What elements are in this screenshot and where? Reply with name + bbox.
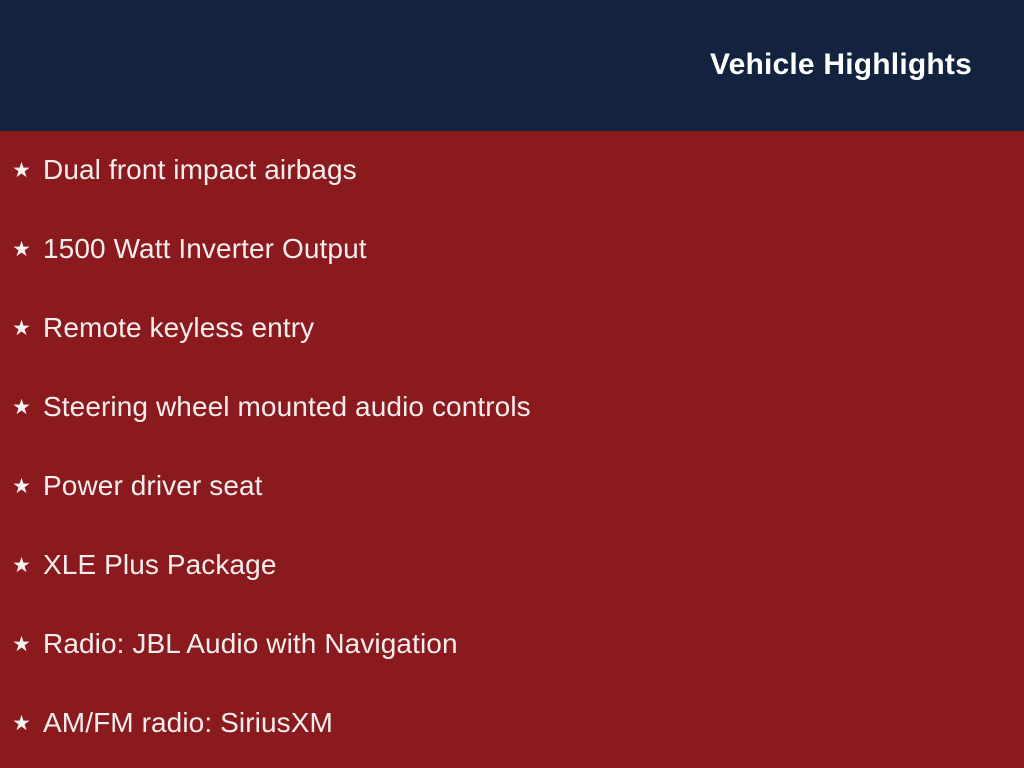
list-item-label: Remote keyless entry xyxy=(43,313,314,344)
list-item: ★ Remote keyless entry xyxy=(0,289,1024,368)
list-item: ★ 1500 Watt Inverter Output xyxy=(0,210,1024,289)
slide-header-band: Vehicle Highlights xyxy=(0,0,1024,131)
star-icon: ★ xyxy=(8,634,35,655)
list-item: ★ Radio: JBL Audio with Navigation xyxy=(0,605,1024,684)
list-item: ★ XLE Plus Package xyxy=(0,526,1024,605)
list-item: ★ Dual front impact airbags xyxy=(0,131,1024,210)
vehicle-highlights-slide: Vehicle Highlights ★ Dual front impact a… xyxy=(0,0,1024,768)
page-title: Vehicle Highlights xyxy=(710,50,972,80)
star-icon: ★ xyxy=(8,160,35,181)
list-item-label: Dual front impact airbags xyxy=(43,155,357,186)
list-item-label: Power driver seat xyxy=(43,471,263,502)
list-item: ★ AM/FM radio: SiriusXM xyxy=(0,684,1024,763)
star-icon: ★ xyxy=(8,318,35,339)
list-item-label: Steering wheel mounted audio controls xyxy=(43,392,531,423)
list-item-label: 1500 Watt Inverter Output xyxy=(43,234,367,265)
list-item: ★ Steering wheel mounted audio controls xyxy=(0,368,1024,447)
vehicle-highlights-list: ★ Dual front impact airbags ★ 1500 Watt … xyxy=(0,131,1024,763)
slide-body: ★ Dual front impact airbags ★ 1500 Watt … xyxy=(0,131,1024,768)
star-icon: ★ xyxy=(8,555,35,576)
list-item-label: Radio: JBL Audio with Navigation xyxy=(43,629,458,660)
list-item: ★ Power driver seat xyxy=(0,447,1024,526)
list-item-label: XLE Plus Package xyxy=(43,550,277,581)
star-icon: ★ xyxy=(8,239,35,260)
star-icon: ★ xyxy=(8,476,35,497)
list-item-label: AM/FM radio: SiriusXM xyxy=(43,708,333,739)
star-icon: ★ xyxy=(8,713,35,734)
star-icon: ★ xyxy=(8,397,35,418)
